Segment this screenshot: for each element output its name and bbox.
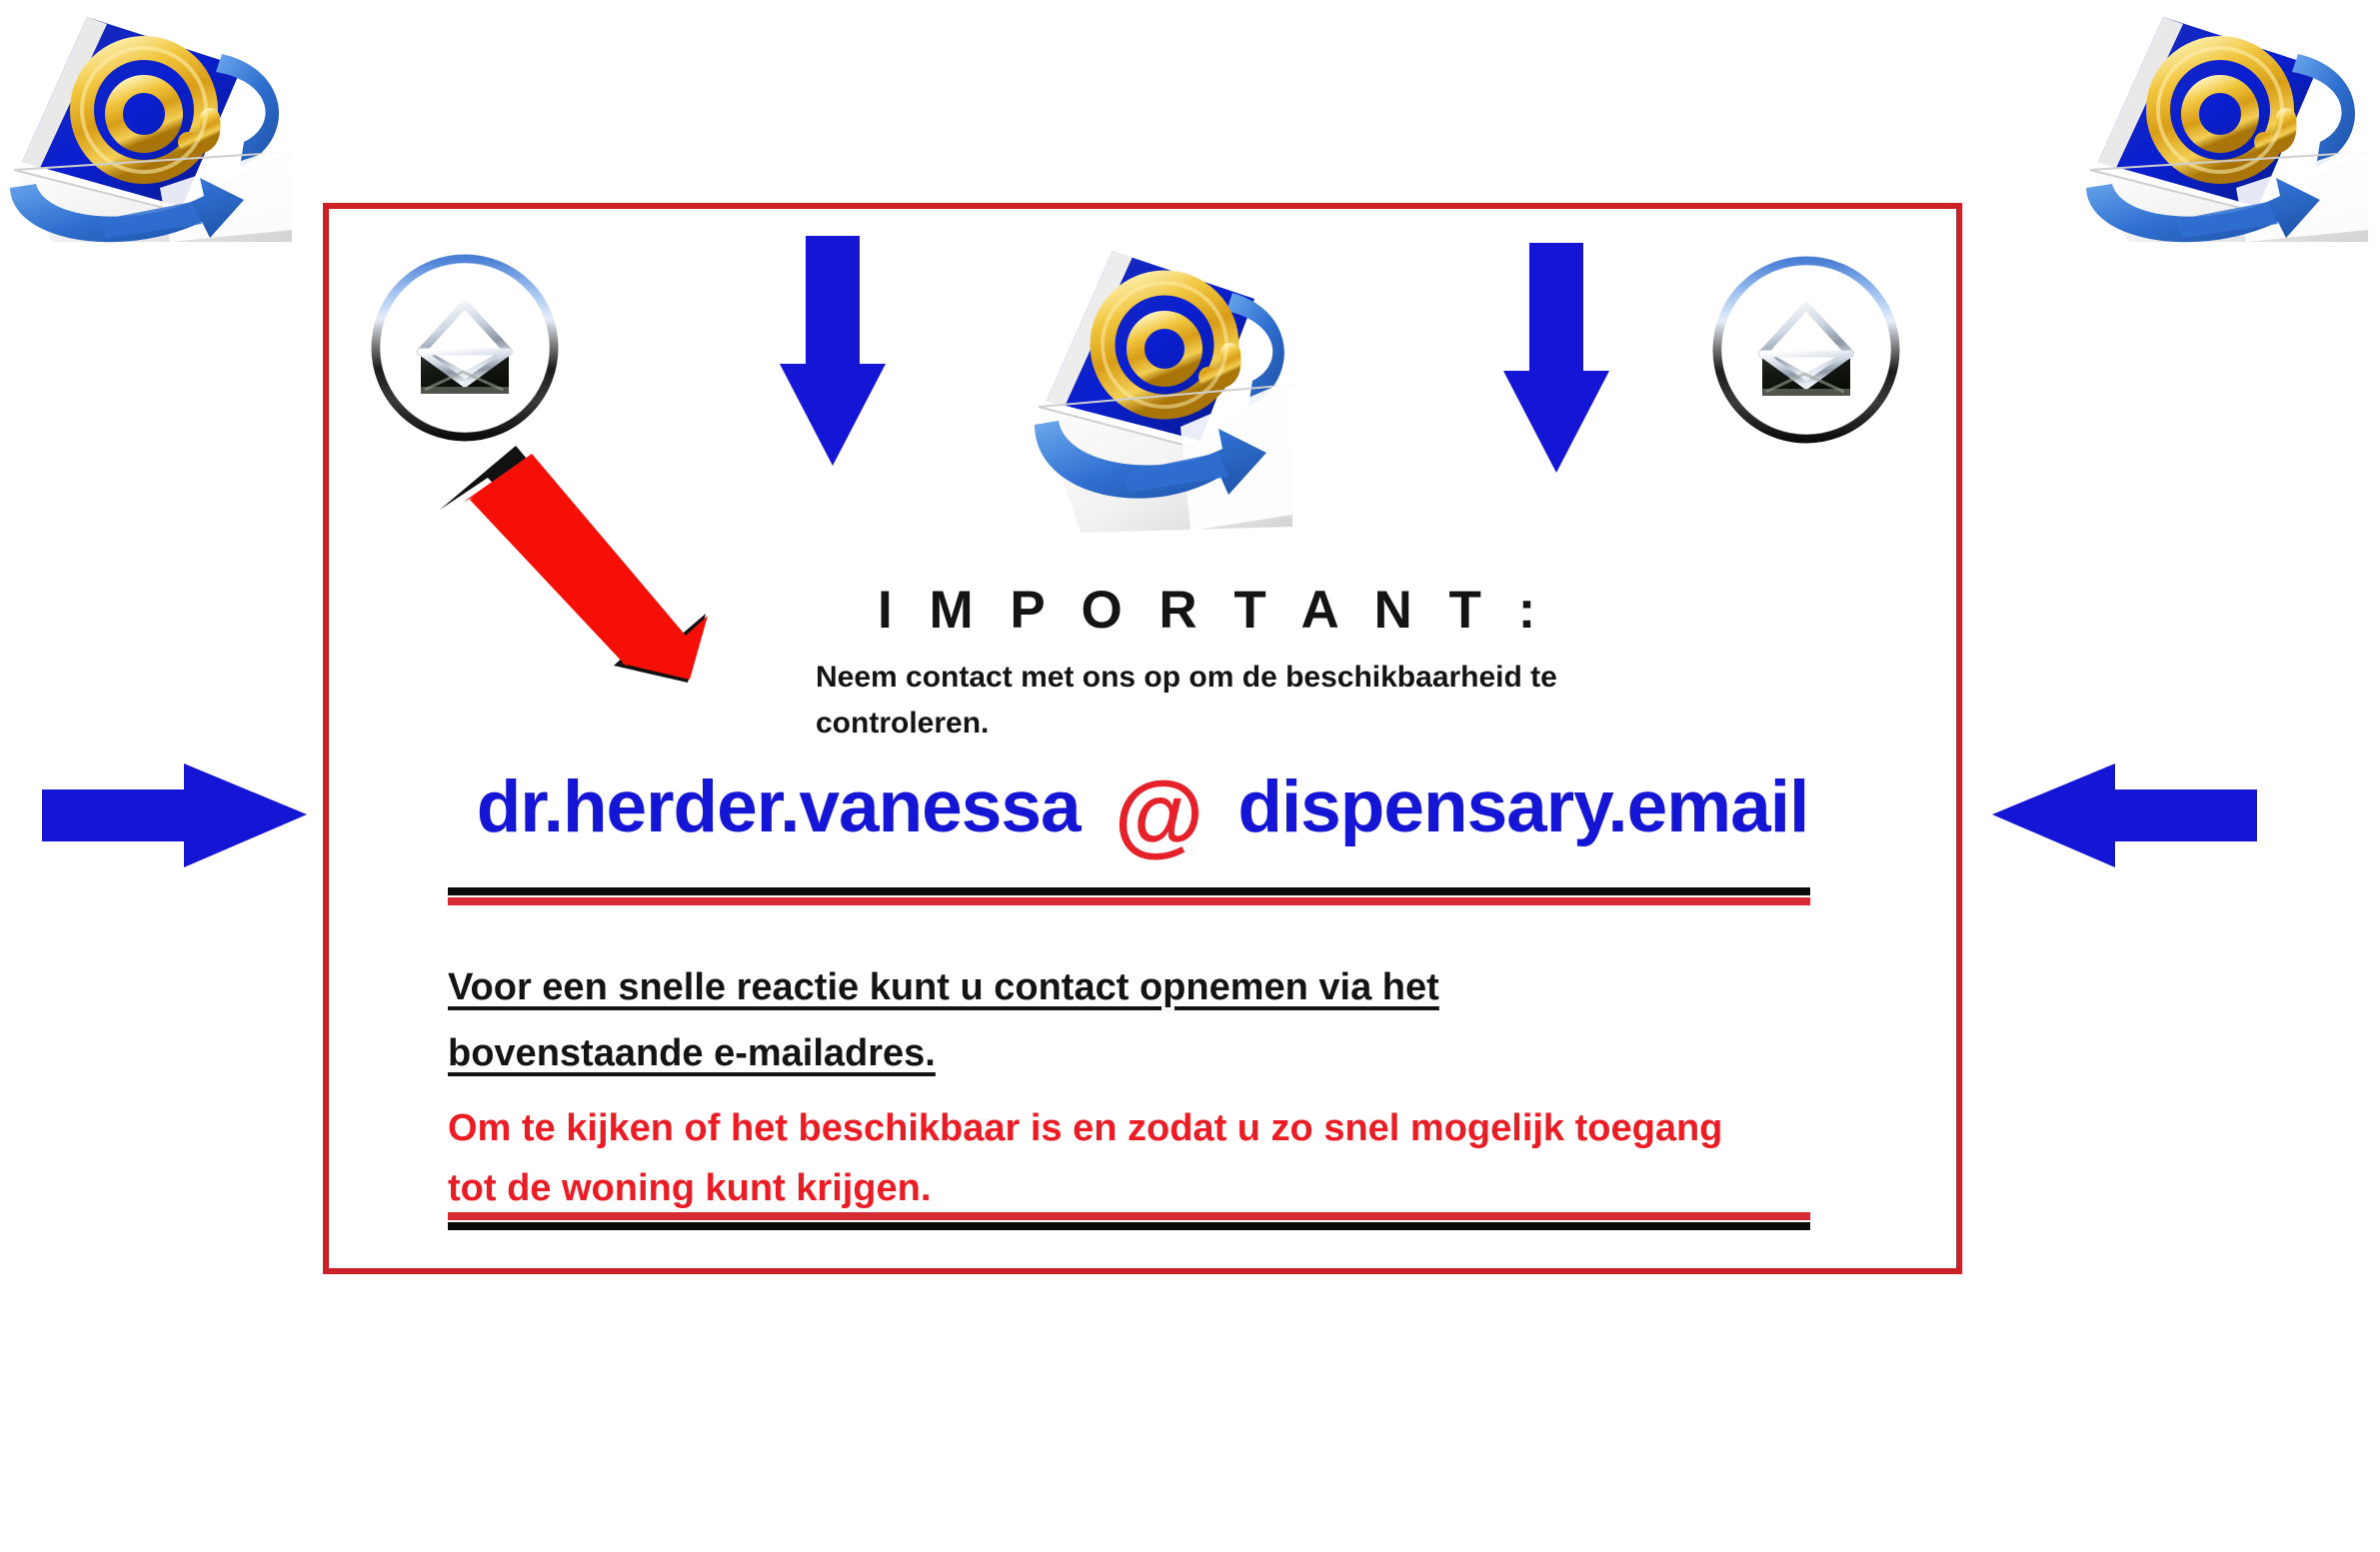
blue-down-arrow-left — [778, 236, 888, 466]
page-title: I M P O R T A N T : — [878, 580, 1546, 641]
red-instruction-paragraph: Om te kijken of het beschikbaar is en zo… — [448, 1098, 1737, 1218]
at-symbol-icon: @ — [1115, 769, 1204, 860]
chrome-circle-envelope-icon-left — [365, 248, 565, 448]
red-diagonal-arrow — [440, 438, 710, 683]
subheading-text: Neem contact met ons op om de beschikbaa… — [816, 655, 1605, 747]
black-instruction-paragraph: Voor een snelle reactie kunt u contact o… — [448, 954, 1607, 1086]
poster-canvas: I M P O R T A N T : Neem contact met ons… — [0, 0, 2380, 1552]
black-instruction-text: Voor een snelle reactie kunt u contact o… — [448, 966, 1439, 1074]
divider-top — [448, 887, 1810, 905]
email-envelope-at-graphic-top-right — [2068, 0, 2380, 242]
blue-right-arrow — [42, 760, 307, 871]
blue-down-arrow-right — [1501, 243, 1611, 473]
email-envelope-at-graphic-center — [1005, 215, 1294, 555]
email-address-row[interactable]: dr.herder.vanessa @ dispensary.email — [323, 752, 1962, 861]
divider-top-black-bar — [448, 887, 1810, 895]
email-local-part: dr.herder.vanessa — [477, 766, 1081, 848]
divider-bottom-red-bar — [448, 1212, 1810, 1220]
email-envelope-at-graphic-top-left — [0, 0, 312, 242]
blue-left-arrow — [1992, 760, 2257, 871]
divider-bottom — [448, 1212, 1810, 1230]
chrome-circle-envelope-icon-right — [1706, 250, 1906, 450]
divider-top-red-bar — [448, 897, 1810, 905]
divider-bottom-black-bar — [448, 1222, 1810, 1230]
email-domain-part: dispensary.email — [1237, 766, 1808, 848]
